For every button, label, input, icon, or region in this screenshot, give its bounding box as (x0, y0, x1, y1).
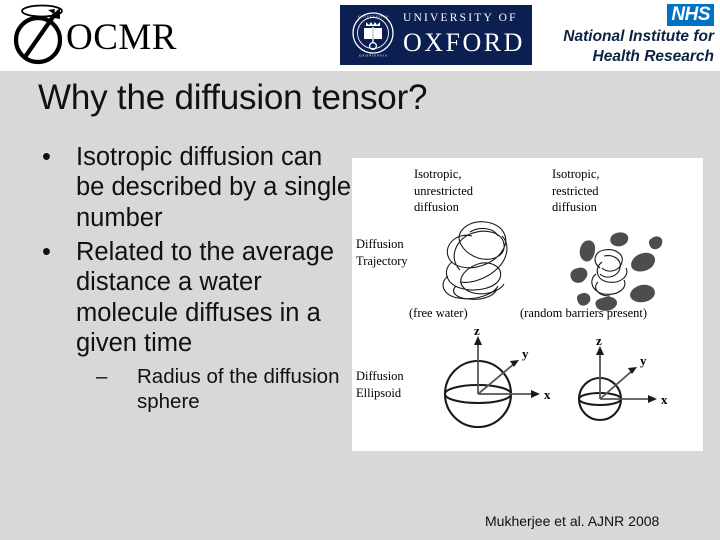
svg-text:· U N I V E R S I T A S ·: · U N I V E R S I T A S · (356, 15, 390, 19)
sub-bullet-text: Radius of the diffusion sphere (137, 365, 339, 413)
oxford-crest-icon: · U N I V E R S I T A S · O X O N I E N … (348, 10, 398, 60)
bullet-marker: • (42, 237, 51, 267)
axis-label-z-right: z (596, 333, 602, 348)
bullet-item: • Isotropic diffusion can be described b… (34, 142, 352, 233)
svg-text:O X O N I E N S I S: O X O N I E N S I S (359, 54, 387, 58)
axis-label-x-left: x (544, 387, 551, 402)
axis-label-z-left: z (474, 323, 480, 338)
header-band: OCMR · U N I V E R S I T A S · O X O N I… (0, 0, 720, 71)
nhs-badge: NHS (667, 4, 714, 26)
barrier-blobs (570, 232, 662, 310)
restricted-trajectory-icon (570, 232, 662, 310)
slide-canvas: OCMR · U N I V E R S I T A S · O X O N I… (0, 0, 720, 540)
axis-label-x-right: x (661, 392, 668, 407)
body-text-column: • Isotropic diffusion can be described b… (34, 142, 352, 415)
oxford-line-1: UNIVERSITY OF (403, 13, 525, 25)
figure-panel: Isotropic, unrestricted diffusion Isotro… (352, 158, 703, 451)
sub-bullet-marker: – (96, 365, 107, 390)
oxford-wordmark: UNIVERSITY OF OXFORD (403, 13, 525, 57)
citation-text: Mukherjee et al. AJNR 2008 (485, 513, 659, 529)
sub-bullet-item: – Radius of the diffusion sphere (34, 365, 352, 414)
page-title: Why the diffusion tensor? (38, 78, 427, 118)
axis-label-y-right: y (640, 353, 647, 368)
oxford-line-2: OXFORD (403, 29, 525, 58)
nihr-line-1: National Institute for (530, 28, 714, 46)
bullet-marker: • (42, 142, 51, 172)
ocmr-logo: OCMR (8, 2, 208, 68)
oxford-logo: · U N I V E R S I T A S · O X O N I E N … (340, 5, 532, 65)
free-water-trajectory-icon (443, 222, 507, 300)
axis-label-y-left: y (522, 346, 529, 361)
figure-drawings: z y x z y x (352, 158, 703, 451)
bullet-text: Isotropic diffusion can be described by … (76, 143, 351, 232)
nihr-logo: NHS National Institute for Health Resear… (530, 4, 714, 66)
ocmr-wordmark: OCMR (66, 19, 177, 56)
bullet-text: Related to the average distance a water … (76, 238, 334, 357)
nihr-line-2: Health Research (530, 48, 714, 66)
bullet-item: • Related to the average distance a wate… (34, 237, 352, 358)
